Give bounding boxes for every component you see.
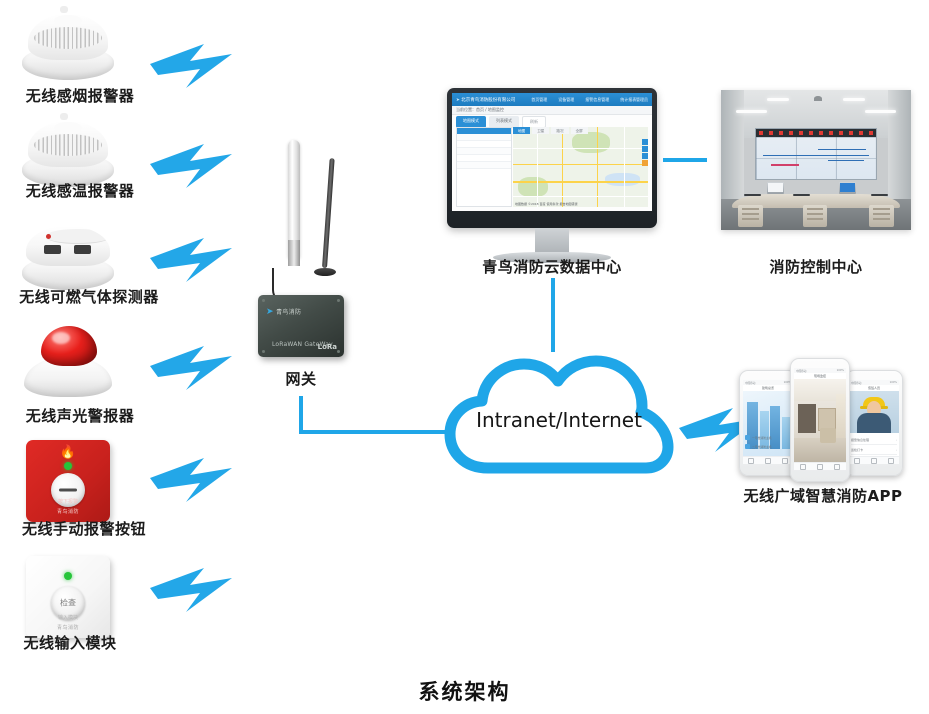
map-tool-zoom-in[interactable] [642,139,648,145]
device-label-module: 无线输入模块 [0,632,140,653]
cc-laptop-screen [768,183,783,191]
gateway-screw [337,350,340,353]
cc-video-wall [755,128,877,180]
cc-plan-trace [763,155,868,156]
cc-keyboard [793,194,810,197]
room-window [836,394,845,438]
diagram-title: 系统架构 [0,676,929,706]
app-label: 无线广域智慧消防APP [735,485,911,506]
bolt-manual-to-gateway [148,442,234,504]
map-road [513,181,648,183]
table-row[interactable] [457,162,511,169]
phone-tab-bar[interactable] [743,456,793,464]
building-shape [747,402,758,450]
map-green-area [518,177,548,198]
detector-head [28,121,108,167]
detector-ring [46,229,110,244]
map-tab-3[interactable]: 全屏 [571,127,588,134]
cc-ceiling-light [865,110,895,113]
cc-laptop [767,182,784,193]
table-row[interactable] [457,141,511,148]
map-road [513,164,648,166]
device-label-sounder: 无线声光警报器 [0,405,160,426]
input-module-icon: 检查 输入模块 青鸟消防 [26,556,110,638]
device-label-smoke: 无线感烟报警器 [0,85,160,106]
sounder-strobe-icon [16,325,120,399]
sounder-highlight [52,332,70,344]
map-green-area [572,132,610,153]
phone-battery: 100% [890,381,897,384]
device-icon [745,435,750,440]
detector-cap [54,15,82,27]
gateway-brand-logo: ➤ 青鸟消防 [266,307,301,317]
cloud-label: Intranet/Internet [476,408,642,432]
gas-detector-icon [16,218,120,292]
system-architecture-diagram: 无线感烟报警器 无线感温报警器 无线可燃气体探测器 无线声光警报器 🔥 [0,0,929,714]
device-label-manual: 无线手动报警按钮 [0,518,168,539]
datacenter-monitor: ➤ 北京青鸟消防股份有限公司 首页管理 设备管理 报警信息管理 统计报表 管理员… [447,88,657,228]
brand-mark-icon: ➤ [456,98,460,103]
phone-nav-title: 值班人员 [868,386,880,390]
gateway-device-icon: ➤ 青鸟消防 LoRaWAN GateWay LoRa [258,295,344,357]
check-button-label: 检查 [60,598,76,609]
map-tool-layers[interactable] [642,153,648,159]
phone-screen: 中国移动 100% 值班人员 报警信息处理 › 巡检打卡 › [849,380,899,464]
phone-row-title: 二号楼消防主机 [752,445,772,449]
map-side-toolbar[interactable] [642,139,648,166]
heat-detector-icon [16,115,120,189]
cc-desk-pedestal [738,205,763,227]
status-led [64,462,72,470]
panel-mini-text: 输入模块 [26,614,110,621]
phone-tab-bar[interactable] [849,456,899,464]
cc-laptop [839,182,856,193]
phone-list-row[interactable]: 一号楼消防主机 [745,434,772,441]
cc-ceiling-dome-icon [814,96,822,101]
tab-alarm-icon[interactable] [765,458,771,464]
cc-header-char [789,131,793,135]
sounder-red-dome [41,326,97,366]
detector-led [46,234,51,239]
dashboard-topbar: ➤ 北京青鸟消防股份有限公司 首页管理 设备管理 报警信息管理 统计报表 管理员 [452,93,652,106]
datacenter-label: 青鸟消防云数据中心 [452,256,652,277]
detector-cap [54,122,82,134]
tab-home-icon[interactable] [748,458,754,464]
bolt-smoke-to-gateway [148,28,234,90]
table-row[interactable] [457,134,511,141]
tab-profile-icon[interactable] [834,464,840,470]
cc-plan-trace-alarm [771,164,800,166]
phone-carrier: 中国移动 [745,381,755,385]
dashboard-map[interactable]: 地图 卫星 路况 全屏 地图数据 ©2018 百度 使用条款 报告地图错误 [513,127,648,207]
gateway-screw [262,350,265,353]
cc-header-char [869,131,873,135]
cc-video-wall-grid [756,137,876,179]
gateway-antenna-base [314,268,336,276]
room-sofa [820,428,836,443]
room-cabinet [798,404,816,433]
phone-worker-photo [849,391,899,435]
cc-header-char [859,131,863,135]
bolt-gas-to-gateway [148,222,234,284]
cc-desk-pedestal [869,205,894,227]
app-phone-right[interactable]: 中国移动 100% 值班人员 报警信息处理 › 巡检打卡 › [845,370,903,476]
cc-ceiling-light [736,110,766,113]
cc-wall-right [888,90,911,205]
line-datacenter-to-controlcenter [663,158,707,162]
device-icon [745,444,750,449]
monitor-neck [535,228,569,254]
detector-head [28,14,108,60]
tab-home-icon[interactable] [854,458,860,464]
cc-plan-trace [818,149,866,150]
phone-battery: 100% [837,369,844,372]
detector-vents [34,134,102,156]
line-cloud-to-datacenter [551,278,555,352]
map-tool-alarm[interactable] [642,160,648,166]
cc-video-wall-header [756,129,876,137]
panel-brand: 青鸟消防 [26,508,110,515]
phone-tab-bar[interactable] [794,462,846,470]
dashboard-breadcrumb: 当前位置：首页 / 地图监控 [452,106,652,115]
phone-nav-title: 建筑总览 [762,386,774,390]
map-road-minor [624,127,625,207]
cc-header-char [809,131,813,135]
cc-laptop-screen [840,183,855,191]
gateway-antenna-thin [322,158,335,268]
dashboard-nav-item-3[interactable]: 统计报表 [620,97,636,103]
dashboard-nav-item-0[interactable]: 首页管理 [531,97,547,103]
phone-carrier: 中国移动 [851,381,861,385]
device-label-gas: 无线可燃气体探测器 [0,286,178,307]
cc-header-char [839,131,843,135]
cc-header-char [759,131,763,135]
detector-sensor-slot [44,245,61,254]
press-button-bar [59,489,77,492]
cc-ceiling-light [767,98,790,101]
phone-building-illustration: 一号楼消防主机 二号楼消防主机 [743,391,793,457]
phone-row-title: 一号楼消防主机 [752,436,772,440]
brand-mark-icon: ➤ [266,307,274,317]
tab-camera-icon[interactable] [817,464,823,470]
device-label-heat: 无线感温报警器 [0,180,160,201]
table-row[interactable] [457,155,511,162]
detector-vents [34,27,102,49]
gateway-screw [337,299,340,302]
phone-screen: 中国移动 100% 现场监控 [794,368,846,470]
detector-nub [60,6,68,13]
map-tab-1[interactable]: 卫星 [532,127,549,134]
phone-action-list: 报警信息处理 › 巡检打卡 › [849,433,899,457]
map-tabs: 地图 卫星 路况 全屏 [513,127,588,134]
detector-sensor-slot [74,245,91,254]
cc-header-char [849,131,853,135]
cc-header-char [799,131,803,135]
map-tab-0[interactable]: 地图 [513,127,530,134]
tab-profile-icon[interactable] [782,458,788,464]
cc-desk-pedestal [803,205,828,227]
map-tool-zoom-out[interactable] [642,146,648,152]
tab-profile-icon[interactable] [888,458,894,464]
status-led [64,572,72,580]
map-road-minor [513,148,648,149]
chevron-right-icon: › [896,448,897,452]
control-center-label: 消防控制中心 [721,256,911,277]
cloud-label-wrap: Intranet/Internet [442,352,676,478]
map-road-minor [513,196,648,197]
map-attribution: 地图数据 ©2018 百度 使用条款 报告地图错误 [515,202,577,206]
cc-keyboard [744,194,761,197]
line-gateway-to-cloud-vertical [299,396,303,434]
map-water [605,173,640,186]
cc-plan-trace [828,160,864,161]
phone-room-camera-view [794,379,846,463]
dashboard-user[interactable]: 管理员 [636,97,648,103]
cc-header-char [779,131,783,135]
panel-mini-text: 按下报警 [26,498,110,505]
building-shape [782,417,790,449]
detector-head [26,226,110,266]
app-phone-center[interactable]: 中国移动 100% 现场监控 [790,358,850,482]
detector-nub [60,113,68,120]
list-item[interactable]: 巡检打卡 › [851,446,897,455]
phone-screen: 中国移动 100% 建筑总览 一号楼消防主机 二号楼消防主机 [743,380,793,464]
gateway-screw [262,299,265,302]
datacenter-dashboard: ➤ 北京青鸟消防股份有限公司 首页管理 设备管理 报警信息管理 统计报表 管理员… [452,93,652,211]
dashboard-logo-text: 北京青鸟消防股份有限公司 [461,98,515,103]
dashboard-logo: ➤ 北京青鸟消防股份有限公司 [456,97,515,103]
dashboard-nav: 首页管理 设备管理 报警信息管理 统计报表 [531,97,636,103]
cc-header-char [829,131,833,135]
app-phone-left[interactable]: 中国移动 100% 建筑总览 一号楼消防主机 二号楼消防主机 [739,370,797,476]
lora-logo: LoRa [318,343,337,351]
phone-nav-title: 现场监控 [814,374,826,378]
cc-header-char [819,131,823,135]
list-item-label: 巡检打卡 [851,448,863,452]
gateway-brand-text: 青鸟消防 [276,309,301,316]
cc-keyboard [871,194,888,197]
chevron-right-icon: › [896,438,897,442]
bolt-sounder-to-gateway [148,330,234,392]
tab-task-icon[interactable] [871,458,877,464]
list-item[interactable]: 报警信息处理 › [851,436,897,445]
table-row[interactable] [457,148,511,155]
gateway-label: 网关 [238,368,364,389]
map-tab-2[interactable]: 路况 [551,127,568,134]
worker-body [857,413,891,435]
list-item-label: 报警信息处理 [851,438,869,442]
phone-list-row[interactable]: 二号楼消防主机 [745,443,772,450]
cc-header-char [769,131,773,135]
phone-carrier: 中国移动 [796,369,806,373]
tab-home-icon[interactable] [800,464,806,470]
cc-ceiling-light [843,98,866,101]
dashboard-nav-item-2[interactable]: 报警信息管理 [585,97,609,103]
map-road-minor [537,127,538,207]
bolt-heat-to-gateway [148,128,234,190]
smoke-detector-icon [16,8,120,82]
fire-pictogram-icon: 🔥 [58,445,78,461]
gateway-antenna-joint [288,240,300,266]
dashboard-nav-item-1[interactable]: 设备管理 [558,97,574,103]
dashboard-device-table[interactable] [456,127,512,207]
manual-call-point-icon: 🔥 按下报警 青鸟消防 [26,440,110,522]
cc-wall-left [721,90,744,205]
control-center-photo [721,90,911,230]
bolt-module-to-gateway [148,552,234,614]
panel-brand: 青鸟消防 [26,624,110,631]
